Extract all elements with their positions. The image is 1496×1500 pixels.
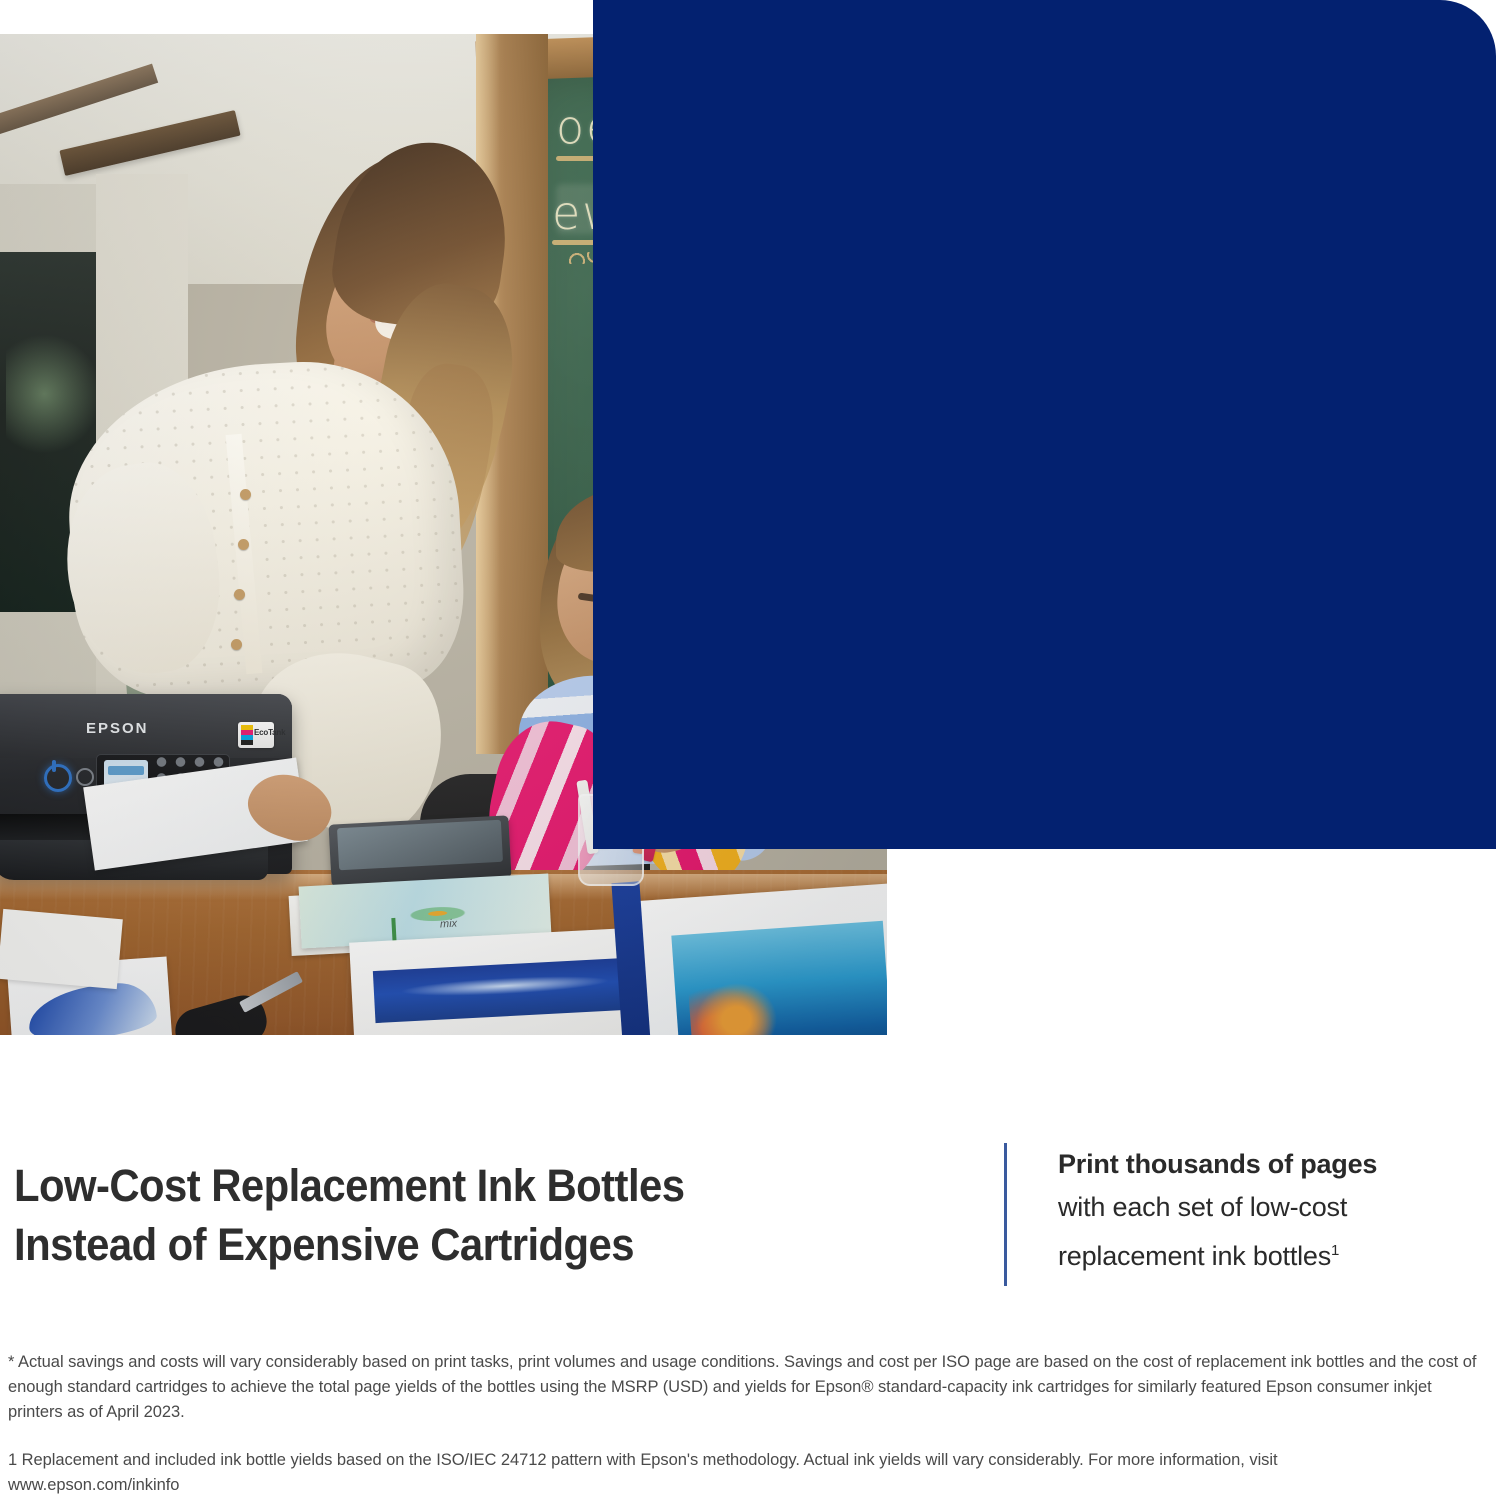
section-headline: Low-Cost Replacement Ink Bottles Instead… — [14, 1156, 907, 1274]
footnote-asterisk: * Actual savings and costs will vary con… — [8, 1350, 1486, 1425]
callout-line-2: replacement ink bottles1 — [1058, 1229, 1478, 1278]
blank-paper — [0, 909, 123, 989]
blouse-button — [238, 539, 249, 550]
vertical-divider — [1004, 1143, 1007, 1286]
printer-stop-button — [76, 768, 94, 786]
section-headline-line-2: Instead of Expensive Cartridges — [14, 1215, 907, 1274]
lower-content-section: Low-Cost Replacement Ink Bottles Instead… — [0, 1038, 1496, 1500]
blouse-button — [234, 589, 245, 600]
blouse-button — [231, 639, 242, 650]
callout-strong-line: Print thousands of pages — [1058, 1143, 1478, 1186]
navy-promo-panel: Save up to 90% with Replacement Ink Bott… — [593, 0, 1496, 849]
callout-line-1: with each set of low-cost — [1058, 1186, 1478, 1229]
window-glow — [6, 334, 102, 454]
epson-logo: EPSON — [86, 720, 149, 737]
printer-lcd-content — [108, 766, 144, 775]
coral-detail — [688, 975, 785, 1035]
section-headline-line-1: Low-Cost Replacement Ink Bottles — [14, 1156, 907, 1215]
footnote-one: 1 Replacement and included ink bottle yi… — [8, 1448, 1428, 1498]
printer-power-button — [44, 764, 72, 792]
ecotank-badge-label: EcoTank — [254, 728, 285, 737]
ink-color-swatch — [241, 725, 253, 745]
blouse-button — [240, 489, 251, 500]
footnote-superscript: 1 — [1331, 1242, 1339, 1259]
callout-line-2-text: replacement ink bottles — [1058, 1241, 1331, 1271]
power-icon — [52, 760, 56, 772]
hero-section: oe = ö ō ew = ö ū ~ few ~ toe av — [0, 0, 1496, 1038]
desk-note-text: mix — [440, 918, 458, 931]
tablet-screen — [337, 820, 503, 871]
right-callout-column: Print thousands of pages with each set o… — [1058, 1143, 1478, 1278]
